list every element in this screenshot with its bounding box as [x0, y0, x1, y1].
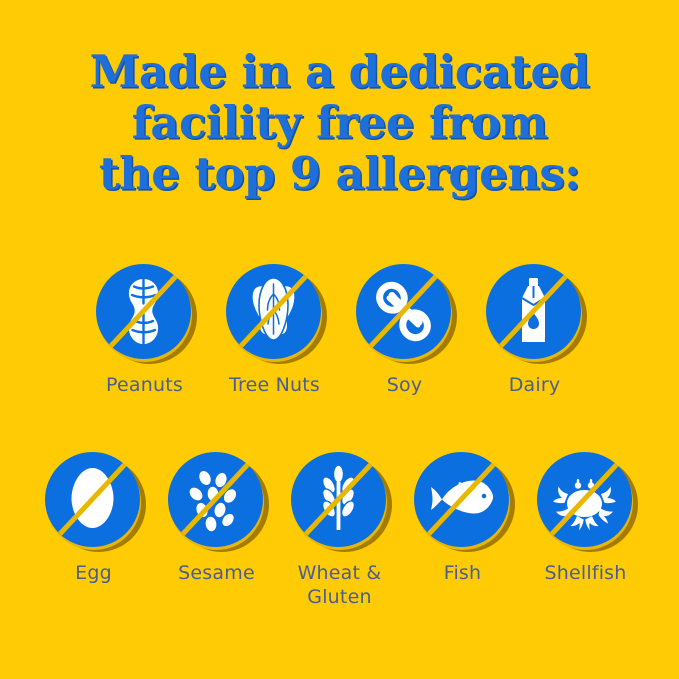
allergen-label: Sesame: [178, 561, 255, 585]
badge-face: [537, 452, 632, 547]
badge-face: [414, 452, 509, 547]
allergen-row-1: Peanuts: [0, 264, 679, 397]
allergen-label: Wheat & Gluten: [298, 561, 382, 609]
allergen-label: Dairy: [509, 373, 561, 397]
allergen-item-soy: Soy: [356, 264, 453, 397]
allergen-poster: Made in a dedicated facility free from t…: [0, 0, 679, 679]
allergen-item-peanuts: Peanuts: [96, 264, 193, 397]
allergen-item-tree-nuts: Tree Nuts: [226, 264, 323, 397]
allergen-badge-peanuts: [96, 264, 193, 361]
allergen-item-fish: Fish: [414, 452, 511, 585]
badge-face: [486, 264, 581, 359]
allergen-badge-sesame: [168, 452, 265, 549]
page-title-line-2: facility free from: [0, 97, 679, 148]
badge-face: [356, 264, 451, 359]
allergen-label: Peanuts: [106, 373, 183, 397]
page-title-line-1: Made in a dedicated: [0, 46, 679, 97]
page-title-line-3: the top 9 allergens:: [0, 148, 679, 199]
badge-face: [291, 452, 386, 547]
allergen-row-2: Egg: [0, 452, 679, 609]
allergen-badge-dairy: [486, 264, 583, 361]
allergen-label: Fish: [444, 561, 482, 585]
allergen-badge-fish: [414, 452, 511, 549]
allergen-label: Egg: [75, 561, 112, 585]
allergen-label: Soy: [387, 373, 423, 397]
badge-face: [168, 452, 263, 547]
badge-face: [96, 264, 191, 359]
allergen-badge-wheat-gluten: [291, 452, 388, 549]
allergen-item-egg: Egg: [45, 452, 142, 585]
allergen-badge-tree-nuts: [226, 264, 323, 361]
allergen-badge-shellfish: [537, 452, 634, 549]
allergen-badge-soy: [356, 264, 453, 361]
allergen-item-dairy: Dairy: [486, 264, 583, 397]
badge-face: [226, 264, 321, 359]
page-title: Made in a dedicated facility free from t…: [0, 46, 679, 199]
allergen-item-wheat-gluten: Wheat & Gluten: [291, 452, 388, 609]
allergen-item-sesame: Sesame: [168, 452, 265, 585]
allergen-badge-egg: [45, 452, 142, 549]
allergen-label: Shellfish: [544, 561, 626, 585]
allergen-label: Tree Nuts: [229, 373, 320, 397]
allergen-item-shellfish: Shellfish: [537, 452, 634, 585]
badge-face: [45, 452, 140, 547]
